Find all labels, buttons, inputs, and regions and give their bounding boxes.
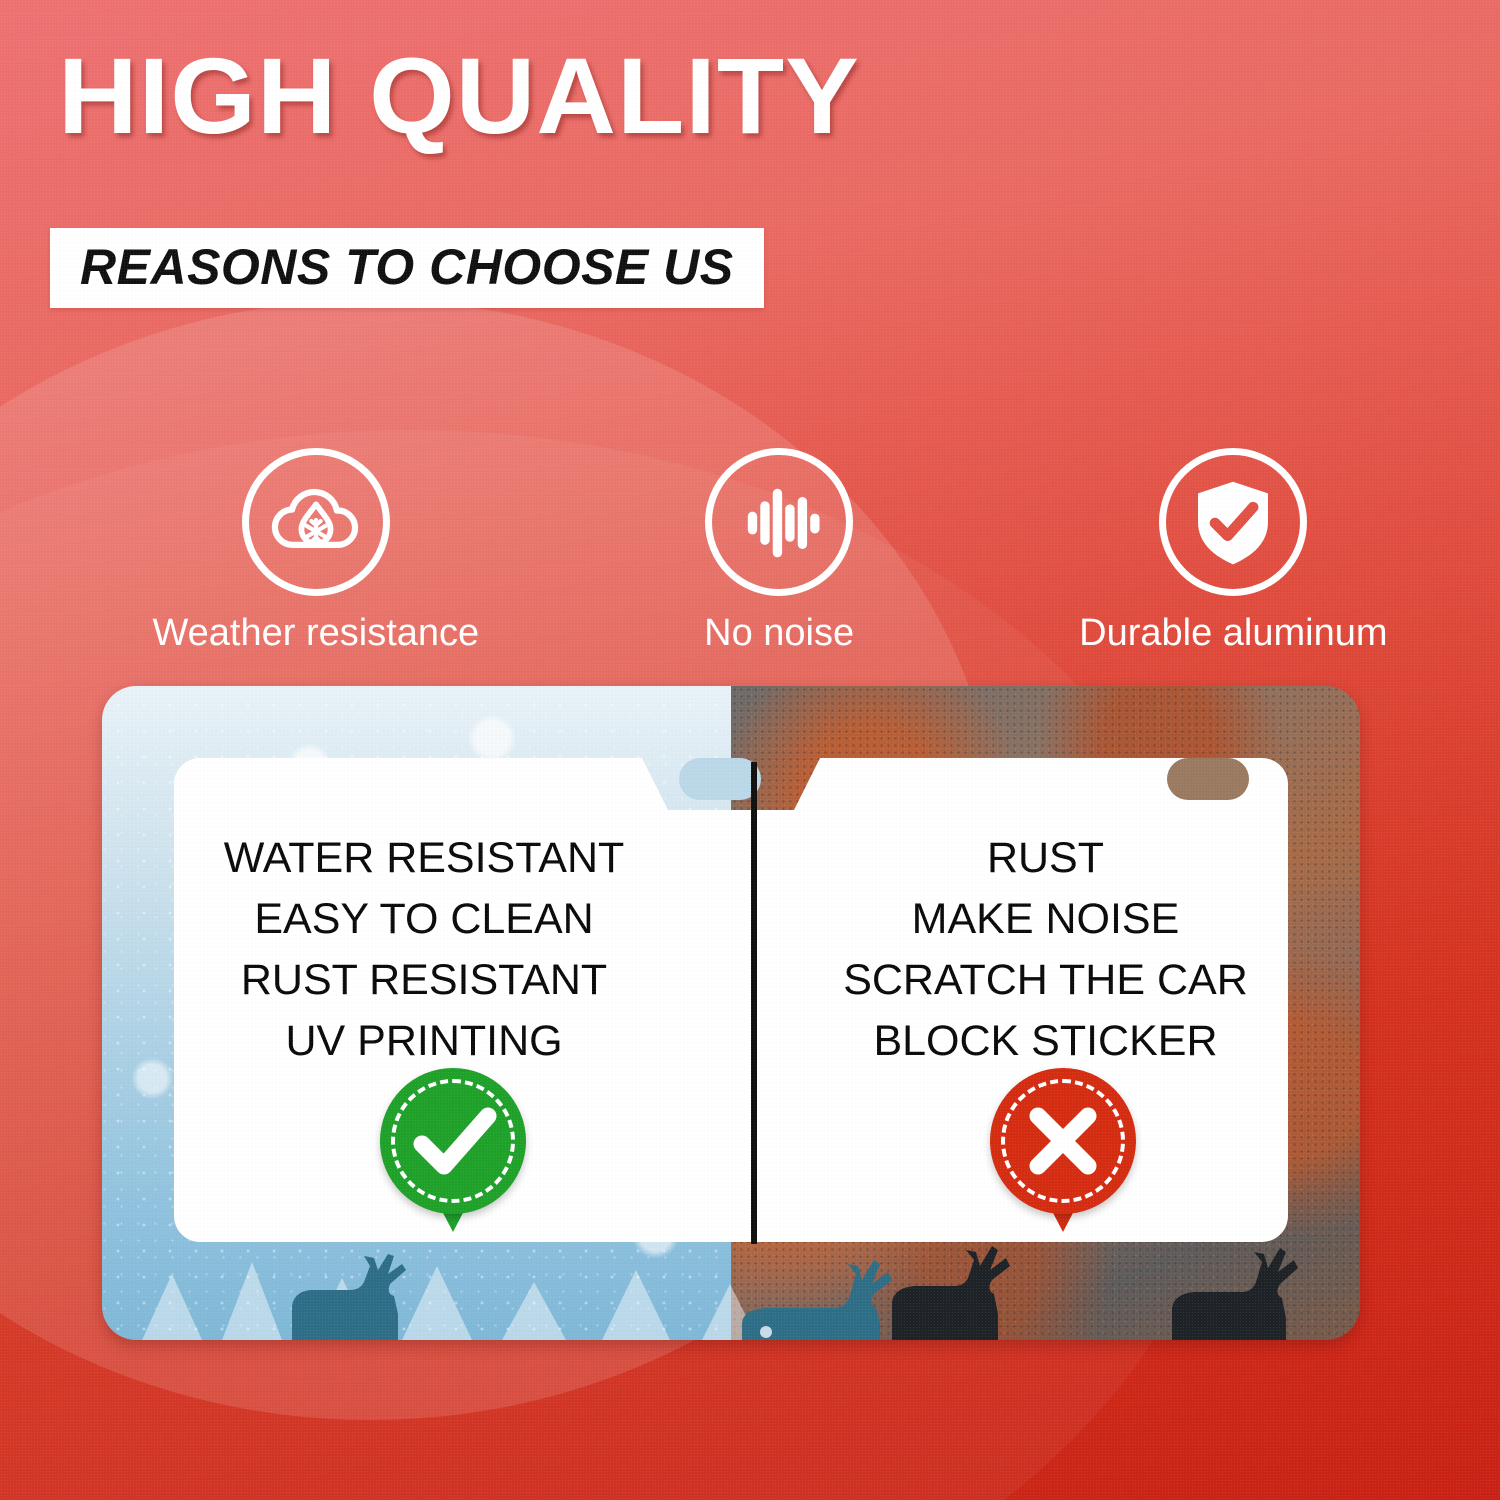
- bad-line: RUST: [756, 828, 1335, 889]
- bad-line: MAKE NOISE: [756, 889, 1335, 950]
- shield-check-icon: [1159, 448, 1307, 596]
- subtitle-text: REASONS TO CHOOSE US: [80, 242, 734, 292]
- good-line: WATER RESISTANT: [135, 828, 714, 889]
- cross-icon: [990, 1068, 1136, 1214]
- good-line: EASY TO CLEAN: [135, 889, 714, 950]
- good-line: RUST RESISTANT: [135, 950, 714, 1011]
- green-check-badge: [380, 1068, 526, 1214]
- feature-label: Durable aluminum: [1079, 612, 1387, 655]
- feature-weather-resistance: Weather resistance: [152, 448, 479, 655]
- good-feature-list: WATER RESISTANT EASY TO CLEAN RUST RESIS…: [135, 828, 714, 1072]
- check-icon: [380, 1068, 526, 1214]
- product-feature-banner: HIGH QUALITY REASONS TO CHOOSE US: [0, 0, 1500, 1500]
- bad-line: SCRATCH THE CAR: [756, 950, 1335, 1011]
- red-cross-badge: [990, 1068, 1136, 1214]
- license-plate-frame-comparison: WATER RESISTANT EASY TO CLEAN RUST RESIS…: [102, 686, 1360, 1340]
- feature-label: Weather resistance: [152, 612, 479, 655]
- subtitle-banner: REASONS TO CHOOSE US: [50, 228, 764, 308]
- page-title: HIGH QUALITY: [58, 42, 860, 150]
- mounting-slot-left: [679, 758, 761, 800]
- feature-durable-aluminum: Durable aluminum: [1079, 448, 1387, 655]
- feature-label: No noise: [704, 612, 854, 655]
- feature-list: Weather resistance No noise: [0, 448, 1500, 655]
- weather-cloud-droplet-snowflake-icon: [242, 448, 390, 596]
- feature-no-noise: No noise: [704, 448, 854, 655]
- bad-line: BLOCK STICKER: [756, 1011, 1335, 1072]
- good-line: UV PRINTING: [135, 1011, 714, 1072]
- sound-wave-icon: [705, 448, 853, 596]
- mounting-slot-right: [1167, 758, 1249, 800]
- bad-feature-list: RUST MAKE NOISE SCRATCH THE CAR BLOCK ST…: [756, 828, 1335, 1072]
